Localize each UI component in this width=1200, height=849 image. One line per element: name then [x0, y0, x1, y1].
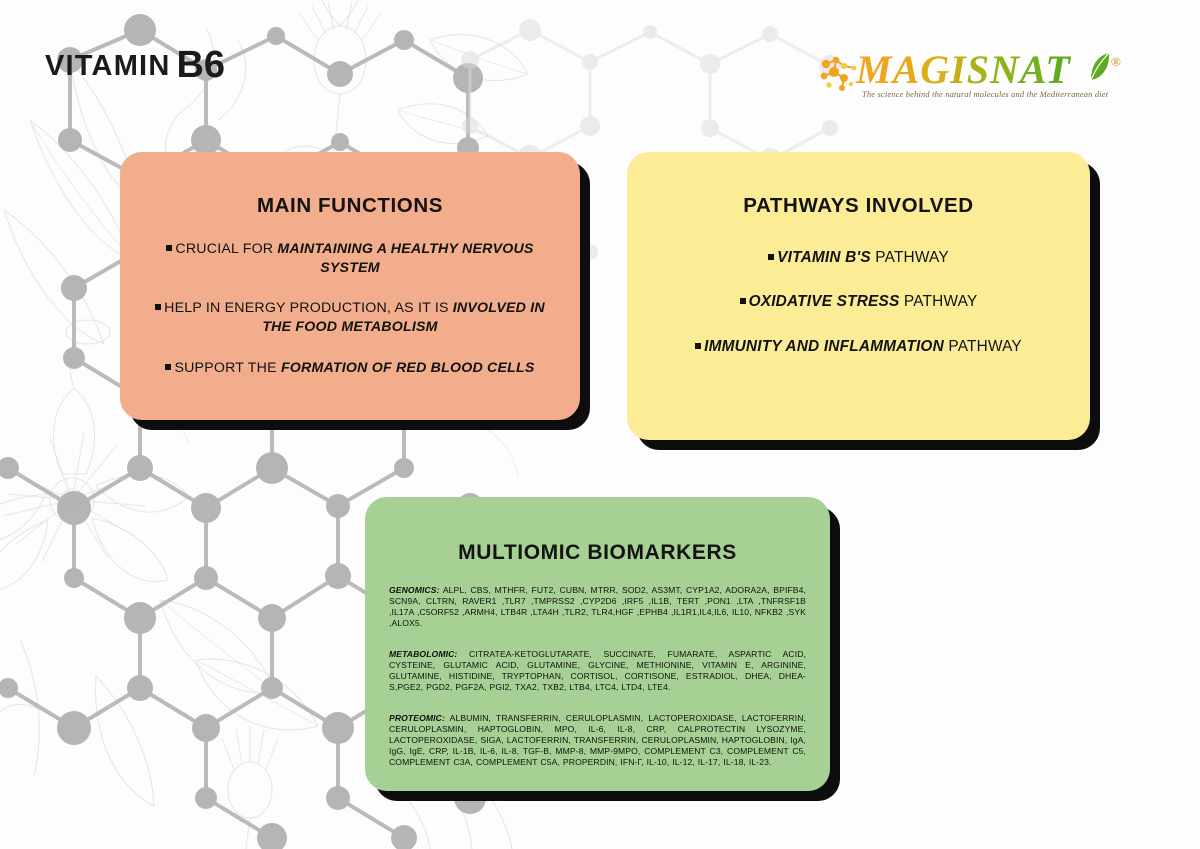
- page-title-highlight: B6: [176, 44, 225, 86]
- metabolomic-section: METABOLOMIC: CITRATEA-KETOGLUTARATE, SUC…: [389, 649, 806, 693]
- card-pathways-involved-title: PATHWAYS INVOLVED: [627, 194, 1090, 218]
- brand-wordmark: MAGISNAT: [856, 50, 1071, 90]
- list-item: IMMUNITY AND INFLAMMATION PATHWAY: [649, 337, 1068, 357]
- list-item-emphasis: OXIDATIVE STRESS: [749, 293, 900, 310]
- brand-tagline: The science behind the natural molecules…: [862, 90, 1108, 99]
- page-title-prefix: VITAMIN: [45, 50, 170, 82]
- list-item-emphasis: FORMATION OF RED BLOOD CELLS: [281, 360, 535, 376]
- list-item-emphasis: VITAMIN B'S: [777, 249, 871, 266]
- list-item-plain-after: PATHWAY: [944, 338, 1022, 355]
- genomics-section: GENOMICS: ALPL, CBS, MTHFR, FUT2, CUBN, …: [389, 585, 806, 629]
- genomics-content: ALPL, CBS, MTHFR, FUT2, CUBN, MTRR, SOD2…: [389, 585, 806, 628]
- page-title: VITAMINB6: [45, 44, 225, 87]
- bullet-square-icon: [740, 298, 746, 304]
- list-item-plain-before: HELP IN ENERGY PRODUCTION, AS IT IS: [164, 300, 453, 316]
- main-functions-list: CRUCIAL FOR MAINTAINING A HEALTHY NERVOU…: [120, 240, 580, 378]
- proteomic-section: PROTEOMIC: ALBUMIN, TRANSFERRIN, CERULOP…: [389, 713, 806, 768]
- list-item: VITAMIN B'S PATHWAY: [649, 248, 1068, 268]
- card-pathways-involved: PATHWAYS INVOLVED VITAMIN B'S PATHWAY OX…: [627, 152, 1090, 440]
- card-multiomic-biomarkers: MULTIOMIC BIOMARKERS GENOMICS: ALPL, CBS…: [365, 497, 830, 791]
- registered-trademark: ®: [1111, 54, 1121, 70]
- brand-logo[interactable]: MAGISNAT ® The science behind the natura…: [818, 48, 1118, 110]
- pathways-list: VITAMIN B'S PATHWAY OXIDATIVE STRESS PAT…: [627, 248, 1090, 357]
- metabolomic-label: METABOLOMIC:: [389, 649, 457, 659]
- list-item-emphasis: MAINTAINING A HEALTHY NERVOUS SYSTEM: [277, 241, 533, 276]
- card-main-functions-title: MAIN FUNCTIONS: [120, 194, 580, 218]
- list-item-plain-after: PATHWAY: [899, 293, 977, 310]
- genomics-label: GENOMICS:: [389, 585, 440, 595]
- infographic-page: VITAMINB6 MAGISNAT ® The science beh: [0, 0, 1200, 849]
- bullet-square-icon: [166, 245, 172, 251]
- list-item-plain-after: PATHWAY: [871, 249, 949, 266]
- list-item-emphasis: IMMUNITY AND INFLAMMATION: [704, 338, 944, 355]
- proteomic-label: PROTEOMIC:: [389, 713, 445, 723]
- list-item: HELP IN ENERGY PRODUCTION, AS IT IS INVO…: [142, 299, 558, 336]
- bullet-square-icon: [155, 304, 161, 310]
- list-item: SUPPORT THE FORMATION OF RED BLOOD CELLS: [142, 359, 558, 378]
- bullet-square-icon: [695, 343, 701, 349]
- bullet-square-icon: [768, 254, 774, 260]
- card-main-functions: MAIN FUNCTIONS CRUCIAL FOR MAINTAINING A…: [120, 152, 580, 420]
- list-item: CRUCIAL FOR MAINTAINING A HEALTHY NERVOU…: [142, 240, 558, 277]
- card-multiomic-biomarkers-title: MULTIOMIC BIOMARKERS: [365, 541, 830, 565]
- list-item-plain-before: SUPPORT THE: [174, 360, 280, 376]
- list-item-plain-before: CRUCIAL FOR: [175, 241, 277, 257]
- proteomic-content: ALBUMIN, TRANSFERRIN, CERULOPLASMIN, LAC…: [389, 713, 806, 767]
- leaf-icon: [1085, 52, 1111, 82]
- bullet-square-icon: [165, 364, 171, 370]
- list-item: OXIDATIVE STRESS PATHWAY: [649, 292, 1068, 312]
